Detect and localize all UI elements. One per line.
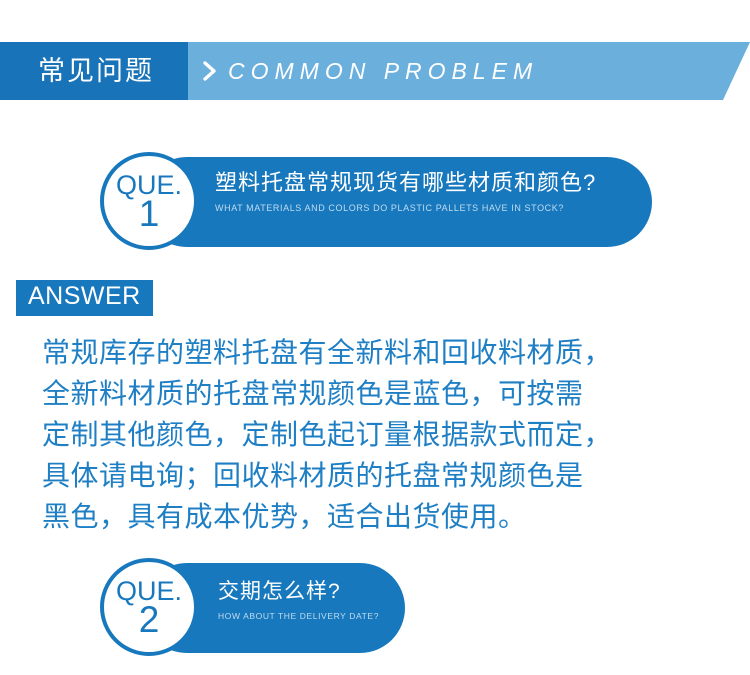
- question-text-group: 塑料托盘常规现货有哪些材质和颜色? WHAT MATERIALS AND COL…: [215, 170, 596, 213]
- answer-line: 黑色，具有成本优势，适合出货使用。: [42, 496, 714, 537]
- question-number-badge: QUE. 1: [100, 152, 198, 250]
- question-title: 塑料托盘常规现货有哪些材质和颜色?: [215, 170, 596, 195]
- answer-line: 常规库存的塑料托盘有全新料和回收料材质，: [42, 332, 714, 373]
- question-item-1[interactable]: QUE. 1 塑料托盘常规现货有哪些材质和颜色? WHAT MATERIALS …: [100, 152, 652, 252]
- answer-line: 全新料材质的托盘常规颜色是蓝色，可按需: [42, 373, 714, 414]
- chevron-right-icon: [203, 42, 217, 100]
- answer-line: 定制其他颜色，定制色起订量根据款式而定，: [42, 414, 714, 455]
- header-banner: 常见问题 COMMON PROBLEM: [0, 42, 750, 100]
- answer-body: 常规库存的塑料托盘有全新料和回收料材质， 全新料材质的托盘常规颜色是蓝色，可按需…: [42, 332, 714, 537]
- question-number-badge: QUE. 2: [100, 558, 198, 656]
- question-subtitle: WHAT MATERIALS AND COLORS DO PLASTIC PAL…: [215, 203, 596, 213]
- banner-dark-block: 常见问题: [0, 42, 188, 100]
- question-badge-number: 2: [139, 603, 160, 637]
- question-subtitle: HOW ABOUT THE DELIVERY DATE?: [218, 611, 379, 621]
- answer-tag: ANSWER: [16, 280, 153, 316]
- question-title: 交期怎么样?: [218, 580, 379, 604]
- banner-subtitle: COMMON PROBLEM: [228, 42, 538, 100]
- page-title: 常见问题: [34, 58, 154, 85]
- question-badge-number: 1: [139, 197, 160, 231]
- answer-line: 具体请电询；回收料材质的托盘常规颜色是: [42, 455, 714, 496]
- question-text-group: 交期怎么样? HOW ABOUT THE DELIVERY DATE?: [218, 580, 379, 621]
- question-item-2[interactable]: QUE. 2 交期怎么样? HOW ABOUT THE DELIVERY DAT…: [100, 558, 405, 662]
